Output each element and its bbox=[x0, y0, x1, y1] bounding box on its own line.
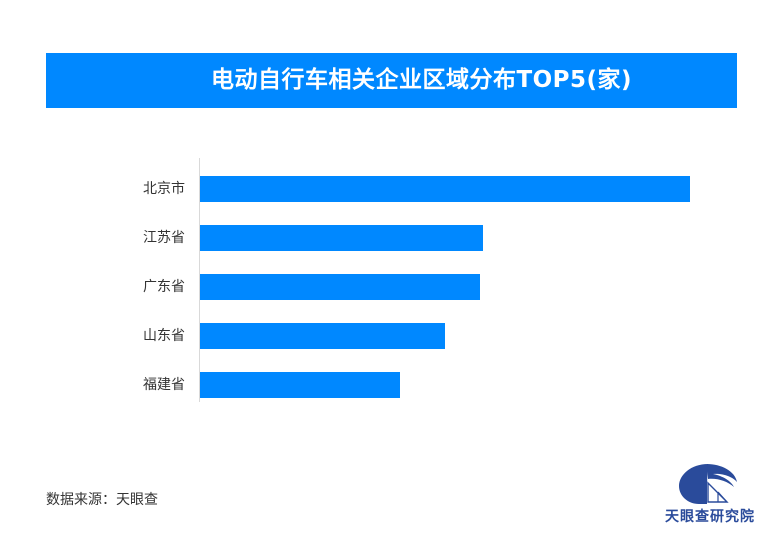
brand-logo-wordmark: 天眼查研究院 bbox=[655, 506, 765, 526]
bar-row: 福建省 bbox=[0, 372, 783, 398]
data-source-label: 数据来源：天眼查 bbox=[46, 489, 158, 509]
bar-rect[interactable] bbox=[200, 372, 400, 398]
bar-category-label: 江苏省 bbox=[143, 225, 185, 251]
bar-row: 山东省 bbox=[0, 323, 783, 349]
bar-row: 江苏省 bbox=[0, 225, 783, 251]
page-title: 电动自行车相关企业区域分布TOP5(家) bbox=[211, 69, 632, 92]
bar-rect[interactable] bbox=[200, 274, 480, 300]
bar-rect[interactable] bbox=[200, 225, 483, 251]
bar-row: 北京市 bbox=[0, 176, 783, 202]
bar-rect[interactable] bbox=[200, 176, 690, 202]
bar-category-label: 北京市 bbox=[143, 176, 185, 202]
bar-category-label: 福建省 bbox=[143, 372, 185, 398]
brand-logo: 天眼查研究院 bbox=[655, 462, 765, 528]
bar-category-label: 山东省 bbox=[143, 323, 185, 349]
bar-rect[interactable] bbox=[200, 323, 445, 349]
bar-row: 广东省 bbox=[0, 274, 783, 300]
infographic-canvas: 电动自行车相关企业区域分布TOP5(家) 北京市 江苏省 广东省 山东省 福建省… bbox=[0, 0, 783, 544]
bar-category-label: 广东省 bbox=[143, 274, 185, 300]
chart-title-banner: 电动自行车相关企业区域分布TOP5(家) bbox=[46, 53, 737, 108]
tianyancha-eye-mountain-logo-icon bbox=[677, 462, 739, 506]
bar-chart: 北京市 江苏省 广东省 山东省 福建省 bbox=[0, 150, 783, 410]
